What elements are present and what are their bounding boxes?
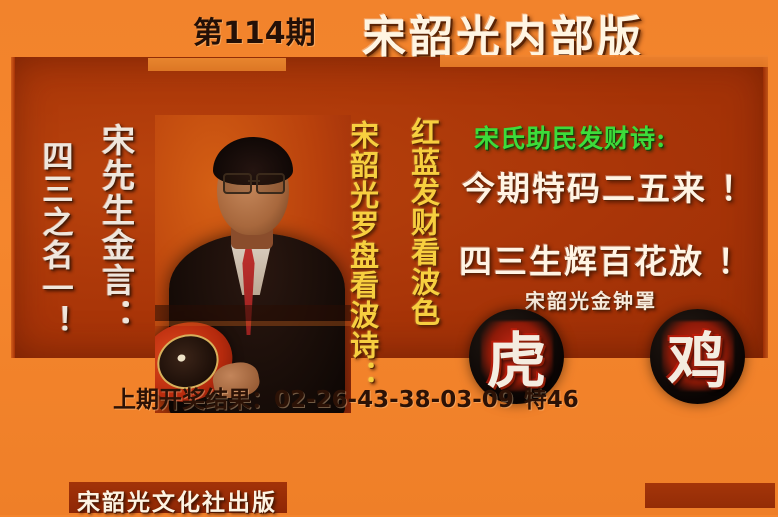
zodiac-glyph: 鸡: [650, 309, 745, 404]
panel-edge-right: [763, 57, 768, 358]
glasses-lens-right: [256, 173, 285, 194]
vertical-text-compass-poem: 宋韶光罗盘看波诗：: [347, 120, 377, 390]
results-special-number: 特46: [524, 387, 579, 413]
previous-draw-results: 上期开奖结果：02-26-43-38-03-09特46: [113, 380, 579, 414]
glasses-lens-left: [223, 173, 252, 194]
vertical-text-wave-color: 红蓝发财看波色: [408, 117, 438, 327]
results-numbers: 02-26-43-38-03-09: [274, 387, 514, 413]
photo-dark-band: [155, 305, 351, 321]
results-label: 上期开奖结果：: [113, 387, 274, 413]
footer-accent-block: [645, 483, 775, 508]
overlay-patch-right: [440, 55, 768, 67]
overlay-patch-left: [148, 58, 286, 71]
photo-light-band: [155, 321, 351, 326]
glasses-bridge: [248, 180, 260, 182]
portrait-photo: [155, 115, 351, 413]
fortune-poem-line-2: 四三生辉百花放 ！: [459, 235, 753, 283]
main-panel: 四三之名一！ 宋先生金言： 宋韶光罗盘看波诗：: [11, 57, 768, 358]
poster-root: 第114期 宋韶光内部版 四三之名一！ 宋先生金言：: [0, 0, 778, 515]
fortune-poem-heading: 宋氏助民发财诗:: [474, 119, 666, 155]
zodiac-circle-rooster: 鸡: [650, 309, 745, 404]
publisher-label: 宋韶光文化社出版: [77, 483, 277, 517]
fortune-poem-line-1: 今期特码二五来 ！: [462, 162, 756, 210]
vertical-text-quote: 宋先生金言：: [99, 123, 133, 333]
issue-number: 第114期: [193, 8, 316, 52]
glasses-icon: [221, 173, 287, 190]
vertical-text-name: 四三之名一！: [38, 140, 70, 338]
panel-edge-left: [11, 57, 15, 358]
